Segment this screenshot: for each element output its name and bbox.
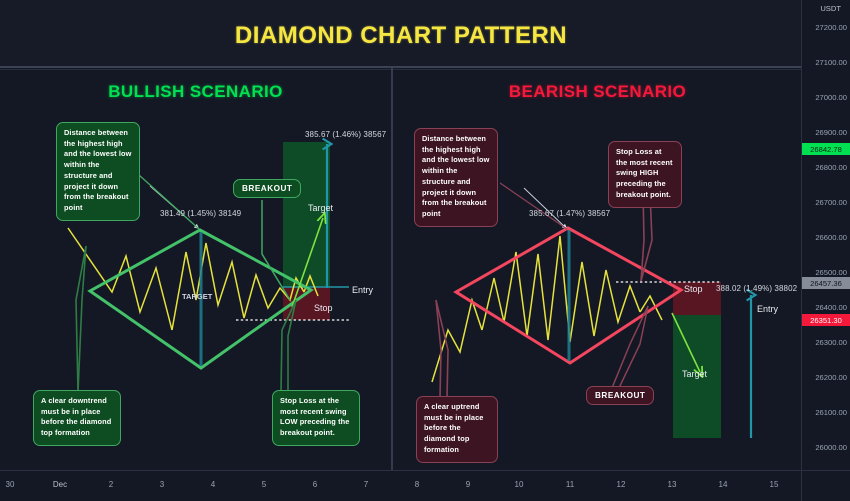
time-tick: 8 [415, 480, 419, 489]
price-tick: 26100.00 [815, 408, 847, 417]
price-tick: 26000.00 [815, 443, 847, 452]
bullish-stoploss-note: Stop Loss at the most recent swing LOW p… [272, 390, 360, 446]
bullish-distance-leader [139, 175, 199, 229]
bullish-breakout-pill: BREAKOUT [233, 179, 301, 198]
chart-plot-area[interactable]: DIAMOND CHART PATTERN BULLISH SCENARIO B… [0, 0, 802, 470]
time-tick: 6 [313, 480, 317, 489]
price-tick: 27100.00 [815, 58, 847, 67]
bearish-distance-note: Distance between the highest high and th… [414, 128, 498, 227]
time-tick: 5 [262, 480, 266, 489]
price-badge-green: 26842.78 [802, 143, 850, 155]
price-scale[interactable]: USDT 27200.0027100.0027000.0026900.00268… [801, 0, 850, 470]
price-tick: 26700.00 [815, 198, 847, 207]
bullish-measure-value: 381.49 (1.45%) 38149 [160, 209, 241, 218]
bearish-price-line-pattern [482, 236, 640, 342]
bearish-target-zone-label: Target [682, 369, 707, 379]
bearish-entry-label: Entry [757, 304, 778, 314]
time-tick: 10 [515, 480, 524, 489]
chart-screenshot: DIAMOND CHART PATTERN BULLISH SCENARIO B… [0, 0, 850, 501]
time-tick: 4 [211, 480, 215, 489]
bullish-downtrend-note: A clear downtrend must be in place befor… [33, 390, 121, 446]
price-tick: 26600.00 [815, 233, 847, 242]
time-scale[interactable]: 30Dec23456789101112131415 [0, 470, 850, 501]
scale-corner [801, 470, 850, 501]
bearish-distance-leader [500, 183, 567, 229]
bullish-entry-label: Entry [352, 285, 373, 295]
bullish-target-zone-label: Target [308, 203, 333, 213]
bullish-target-measure-label: TARGET [182, 292, 212, 301]
bearish-breakout-pill: BREAKOUT [586, 386, 654, 405]
price-tick: 26200.00 [815, 373, 847, 382]
time-tick: 2 [109, 480, 113, 489]
bearish-measure-value: 385.67 (1.47%) 38567 [529, 209, 610, 218]
price-tick: 26900.00 [815, 128, 847, 137]
time-tick: 7 [364, 480, 368, 489]
time-tick: 14 [719, 480, 728, 489]
bearish-breakout-leader-2 [618, 306, 648, 390]
bearish-projection-value: 388.02 (1.49%) 38802 [716, 284, 797, 293]
price-tick: 26500.00 [815, 268, 847, 277]
time-tick: 12 [617, 480, 626, 489]
price-tick: 27200.00 [815, 23, 847, 32]
price-tick: 27000.00 [815, 93, 847, 102]
time-tick: 30 [6, 480, 15, 489]
price-tick: 26800.00 [815, 163, 847, 172]
time-tick: 9 [466, 480, 470, 489]
time-tick: 15 [770, 480, 779, 489]
bullish-distance-note: Distance between the highest high and th… [56, 122, 140, 221]
time-tick: 3 [160, 480, 164, 489]
bullish-stop-zone-label: Stop [314, 303, 333, 313]
price-scale-unit: USDT [820, 4, 841, 13]
bullish-projection-value: 385.67 (1.46%) 38567 [305, 130, 386, 139]
bearish-stop-zone-label: Stop [684, 284, 703, 294]
price-badge-gray: 26457.36 [802, 277, 850, 289]
time-tick: 11 [566, 480, 574, 489]
price-badge-red: 26351.30 [802, 314, 850, 326]
time-tick: Dec [53, 480, 67, 489]
time-tick: 13 [668, 480, 677, 489]
price-tick: 26400.00 [815, 303, 847, 312]
bearish-stoploss-note: Stop Loss at the most recent swing HIGH … [608, 141, 682, 208]
bearish-distance-pointer [524, 188, 566, 228]
bearish-uptrend-note: A clear uptrend must be in place before … [416, 396, 498, 463]
price-tick: 26300.00 [815, 338, 847, 347]
